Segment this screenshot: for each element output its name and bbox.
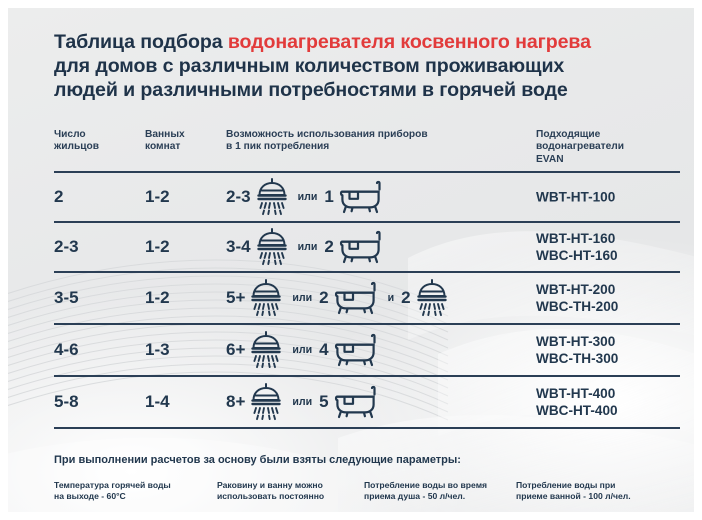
infographic-poster: Таблица подбора водонагревателя косвенно… — [0, 0, 702, 520]
column-header-bathrooms: Ванных комнат — [145, 129, 225, 154]
shower-quantity: 5+ — [226, 288, 245, 308]
footer-intro: При выполнении расчетов за основу были в… — [54, 454, 461, 466]
table-row: 2 1-2 2-3 — [54, 173, 680, 221]
bathtub-icon — [333, 385, 379, 419]
column-header-bathrooms-line2: комнат — [145, 141, 225, 153]
title-line-3: людей и различными потребностями в горяч… — [54, 78, 674, 102]
cell-people: 4-6 — [54, 340, 79, 360]
model-code: WBC-HT-400 — [536, 402, 618, 419]
column-header-people: Число жильцов — [54, 129, 139, 154]
bathtub-quantity: 5 — [319, 392, 328, 412]
cell-bathrooms: 1-2 — [145, 237, 170, 257]
title-part-plain: Таблица подбора — [54, 31, 228, 53]
column-header-models-line1: Подходящие — [536, 129, 694, 141]
cell-devices: 2-3 — [226, 175, 520, 219]
column-header-people-line1: Число — [54, 129, 139, 141]
poster-panel: Таблица подбора водонагревателя косвенно… — [8, 8, 694, 512]
footer-parameter-line2: приеме ванной - 100 л/чел. — [516, 491, 676, 502]
conjunction-or: или — [292, 292, 312, 304]
cell-bathrooms: 1-2 — [145, 288, 170, 308]
conjunction-or: или — [292, 396, 312, 408]
footer-parameter: Потребление воды во время приема душа - … — [364, 480, 524, 501]
model-code: WBT-HT-400 — [536, 385, 618, 402]
bathtub-icon — [333, 333, 379, 367]
cell-devices: 8+ — [226, 380, 520, 424]
title-part-highlight: водонагревателя косвенного нагрева — [228, 31, 591, 53]
column-header-people-line2: жильцов — [54, 141, 139, 153]
cell-bathrooms: 1-4 — [145, 392, 170, 412]
model-code: WBC-HT-160 — [536, 247, 618, 264]
cell-people: 5-8 — [54, 392, 79, 412]
column-header-bathrooms-line1: Ванных — [145, 129, 225, 141]
shower-quantity: 3-4 — [226, 237, 251, 257]
footer-parameter-line2: использовать постоянно — [217, 491, 377, 502]
footer-parameter: Потребление воды при приеме ванной - 100… — [516, 480, 676, 501]
cell-people: 2-3 — [54, 237, 79, 257]
footer-parameter-line1: Потребление воды при — [516, 480, 676, 491]
footer-parameter-line1: Потребление воды во время — [364, 480, 524, 491]
column-header-models-line3: EVAN — [536, 154, 694, 166]
cell-devices: 3-4 — [226, 225, 520, 269]
cell-models: WBT-HT-400 WBC-HT-400 — [536, 385, 618, 419]
bathtub-icon — [338, 180, 384, 214]
bathtub-quantity: 4 — [319, 340, 328, 360]
model-code: WBT-HT-200 — [536, 281, 618, 298]
bathtub-quantity: 1 — [324, 187, 333, 207]
column-header-devices-line1: Возможность использования приборов — [226, 129, 526, 141]
column-header-models: Подходящие водонагреватели EVAN — [536, 129, 694, 166]
shower-quantity: 8+ — [226, 392, 245, 412]
cell-models: WBT-HT-160 WBC-HT-160 — [536, 230, 618, 264]
column-header-models-line2: водонагреватели — [536, 141, 694, 153]
shower-icon — [255, 227, 289, 267]
footer-parameter: Температура горячей воды на выходе - 60°… — [54, 480, 214, 501]
footer-parameter-line2: приема душа - 50 л/чел. — [364, 491, 524, 502]
shower-icon — [249, 382, 283, 422]
cell-devices: 5+ — [226, 276, 520, 320]
second-shower-quantity: 2 — [401, 288, 410, 308]
footer-parameter-line2: на выходе - 60°С — [54, 491, 214, 502]
column-header-devices: Возможность использования приборов в 1 п… — [226, 129, 526, 154]
selection-table: 2 1-2 2-3 — [54, 171, 680, 429]
bathtub-icon — [338, 230, 384, 264]
shower-quantity: 2-3 — [226, 187, 251, 207]
footer-parameter: Раковину и ванну можно использовать пост… — [217, 480, 377, 501]
table-row: 2-3 1-2 3-4 — [54, 223, 680, 271]
conjunction-or: или — [292, 344, 312, 356]
model-code: WBC-TH-300 — [536, 350, 618, 367]
shower-icon — [249, 330, 283, 370]
table-rule — [54, 427, 680, 429]
cell-people: 2 — [54, 187, 63, 207]
column-header-devices-line2: в 1 пик потребления — [226, 141, 526, 153]
shower-icon — [415, 278, 449, 318]
cell-people: 3-5 — [54, 288, 79, 308]
model-code: WBT-HT-300 — [536, 333, 618, 350]
cell-models: WBT-HT-200 WBC-TH-200 — [536, 281, 618, 315]
shower-quantity: 6+ — [226, 340, 245, 360]
model-code: WBT-HT-160 — [536, 230, 618, 247]
cell-models: WBT-HT-300 WBC-TH-300 — [536, 333, 618, 367]
cell-bathrooms: 1-3 — [145, 340, 170, 360]
bathtub-quantity: 2 — [319, 288, 328, 308]
footer-parameter-line1: Температура горячей воды — [54, 480, 214, 491]
cell-bathrooms: 1-2 — [145, 187, 170, 207]
bathtub-icon — [333, 281, 379, 315]
conjunction-or: или — [298, 241, 318, 253]
model-code: WBT-HT-100 — [536, 189, 615, 206]
cell-devices: 6+ — [226, 328, 520, 372]
conjunction-and: и — [388, 292, 395, 304]
cell-models: WBT-HT-100 — [536, 189, 615, 206]
page-title: Таблица подбора водонагревателя косвенно… — [54, 30, 674, 102]
title-line-1: Таблица подбора водонагревателя косвенно… — [54, 30, 674, 54]
shower-icon — [249, 278, 283, 318]
conjunction-or: или — [298, 191, 318, 203]
shower-icon — [255, 177, 289, 217]
table-row: 3-5 1-2 5+ — [54, 273, 680, 323]
table-row: 5-8 1-4 8+ — [54, 377, 680, 427]
footer-parameter-line1: Раковину и ванну можно — [217, 480, 377, 491]
table-row: 4-6 1-3 6+ — [54, 325, 680, 375]
title-line-2: для домов с различным количеством прожив… — [54, 54, 674, 78]
model-code: WBC-TH-200 — [536, 298, 618, 315]
bathtub-quantity: 2 — [324, 237, 333, 257]
